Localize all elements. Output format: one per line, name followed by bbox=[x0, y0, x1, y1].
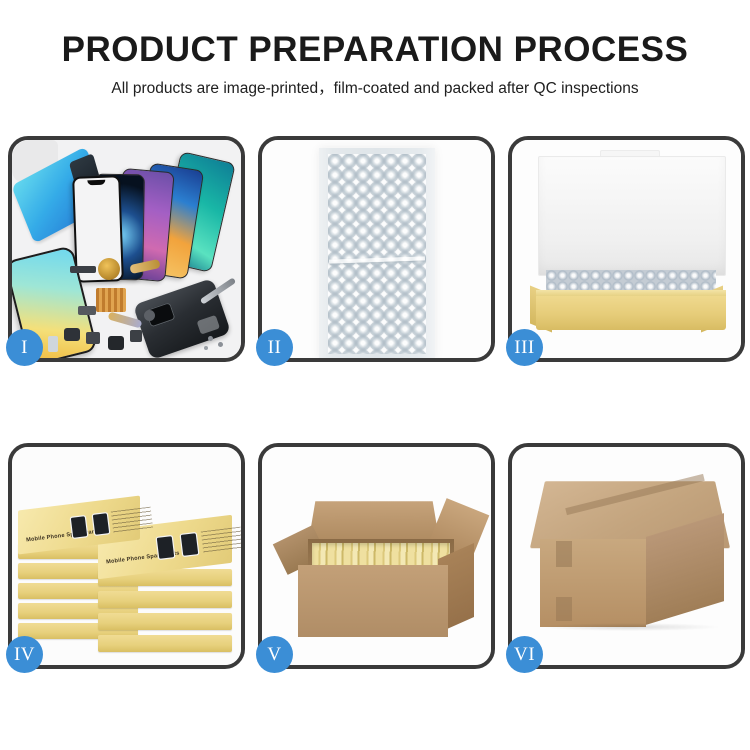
sealed-carton-scene bbox=[512, 447, 741, 665]
screw-icon bbox=[218, 342, 223, 347]
notch-icon bbox=[87, 180, 105, 186]
box-front-icon bbox=[536, 296, 726, 330]
step-image-5 bbox=[262, 447, 491, 665]
step-panel-3: III bbox=[508, 136, 745, 362]
speaker-module-icon bbox=[98, 258, 120, 280]
step-badge-1: I bbox=[6, 329, 43, 366]
phone-parts-scene bbox=[12, 140, 241, 358]
step-badge-4: IV bbox=[6, 636, 43, 673]
carton-shadow bbox=[542, 623, 718, 631]
screw-icon bbox=[204, 346, 208, 350]
product-preparation-infographic: PRODUCT PREPARATION PROCESS All products… bbox=[0, 0, 750, 750]
component-icon bbox=[130, 330, 142, 342]
page-subtitle: All products are image-printed，film-coat… bbox=[0, 80, 750, 99]
bubble-wrap-scene bbox=[262, 140, 491, 358]
component-icon bbox=[86, 332, 100, 344]
box-stack-scene: Mobile Phone Spare Parts Mobile Phone Sp… bbox=[12, 447, 241, 665]
box-lid-icon bbox=[538, 156, 726, 276]
step-panel-5: V bbox=[258, 443, 495, 669]
step-panel-1: I bbox=[8, 136, 245, 362]
component-icon bbox=[70, 266, 96, 273]
sim-tray-icon bbox=[48, 336, 58, 352]
carton-flap-back bbox=[308, 501, 439, 543]
step-image-1 bbox=[12, 140, 241, 358]
step-badge-3: III bbox=[506, 329, 543, 366]
camera-lens-icon bbox=[144, 310, 155, 321]
step-panel-6: VI bbox=[508, 443, 745, 669]
carton-front-panel bbox=[298, 565, 448, 637]
box-art-phone-icon bbox=[93, 513, 109, 535]
step-panel-4: Mobile Phone Spare Parts Mobile Phone Sp… bbox=[8, 443, 245, 669]
inner-box-scene bbox=[512, 140, 741, 358]
camera-module-icon bbox=[108, 336, 124, 350]
box-art-text-lines bbox=[201, 527, 241, 554]
stacked-box bbox=[98, 591, 232, 608]
box-art-phone-icon bbox=[157, 536, 174, 559]
carton-loading-scene bbox=[262, 447, 491, 665]
step-image-2 bbox=[262, 140, 491, 358]
header: PRODUCT PREPARATION PROCESS All products… bbox=[0, 0, 750, 99]
stacked-box bbox=[98, 635, 232, 652]
step-panel-2: II bbox=[258, 136, 495, 362]
step-image-6 bbox=[512, 447, 741, 665]
step-badge-2: II bbox=[256, 329, 293, 366]
step-badge-5: V bbox=[256, 636, 293, 673]
carton-tape-mark bbox=[556, 541, 572, 567]
process-steps-grid: I II bbox=[8, 136, 742, 669]
stacked-box bbox=[98, 613, 232, 630]
box-art-phone-icon bbox=[181, 533, 198, 556]
logic-board-icon bbox=[96, 288, 126, 312]
bubble-wrap-icon bbox=[328, 154, 426, 354]
box-art-phone-icon bbox=[71, 516, 87, 538]
component-icon bbox=[78, 306, 96, 315]
step-image-4: Mobile Phone Spare Parts Mobile Phone Sp… bbox=[12, 447, 241, 665]
page-title: PRODUCT PREPARATION PROCESS bbox=[0, 30, 750, 70]
screw-icon bbox=[208, 336, 213, 341]
step-image-3 bbox=[512, 140, 741, 358]
carton-tape-mark bbox=[556, 597, 572, 621]
component-icon bbox=[64, 328, 80, 341]
step-badge-6: VI bbox=[506, 636, 543, 673]
